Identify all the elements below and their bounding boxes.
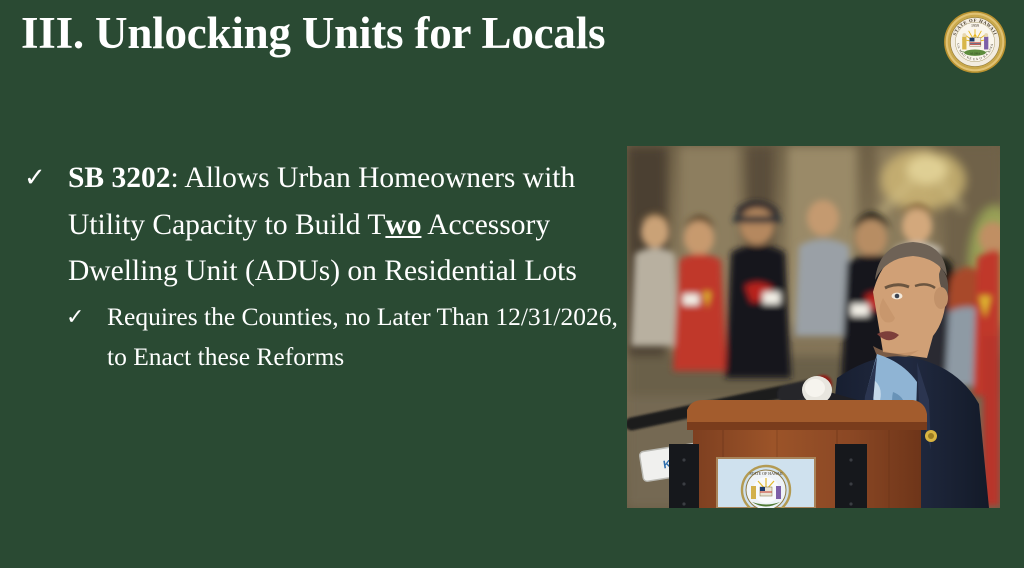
check-icon: ✓	[66, 297, 84, 337]
bullet-subtext: Requires the Counties, no Later Than 12/…	[107, 302, 618, 371]
bullet-item-secondary: ✓ Requires the Counties, no Later Than 1…	[18, 297, 618, 377]
bullet-item-primary: ✓ SB 3202: Allows Urban Homeowners with …	[18, 155, 618, 295]
state-of-hawaii-seal-icon: STATE OF HAWAII UA MAU KE EA O KA AINA 1…	[943, 10, 1007, 74]
bill-number-label: SB 3202	[68, 162, 170, 194]
bullet-list: ✓ SB 3202: Allows Urban Homeowners with …	[18, 155, 618, 377]
svg-text:ALOHA: ALOHA	[970, 51, 981, 55]
svg-text:1959: 1959	[971, 23, 979, 28]
bullet-text-emphasis: wo	[385, 209, 421, 241]
svg-text:STATE OF HAWAII: STATE OF HAWAII	[749, 471, 783, 476]
slide-canvas: III. Unlocking Units for Locals STATE OF…	[0, 0, 1024, 568]
press-conference-photo: LOCALS FIRST	[627, 146, 1000, 508]
page-title: III. Unlocking Units for Locals	[21, 8, 911, 60]
check-icon: ✓	[24, 155, 46, 202]
